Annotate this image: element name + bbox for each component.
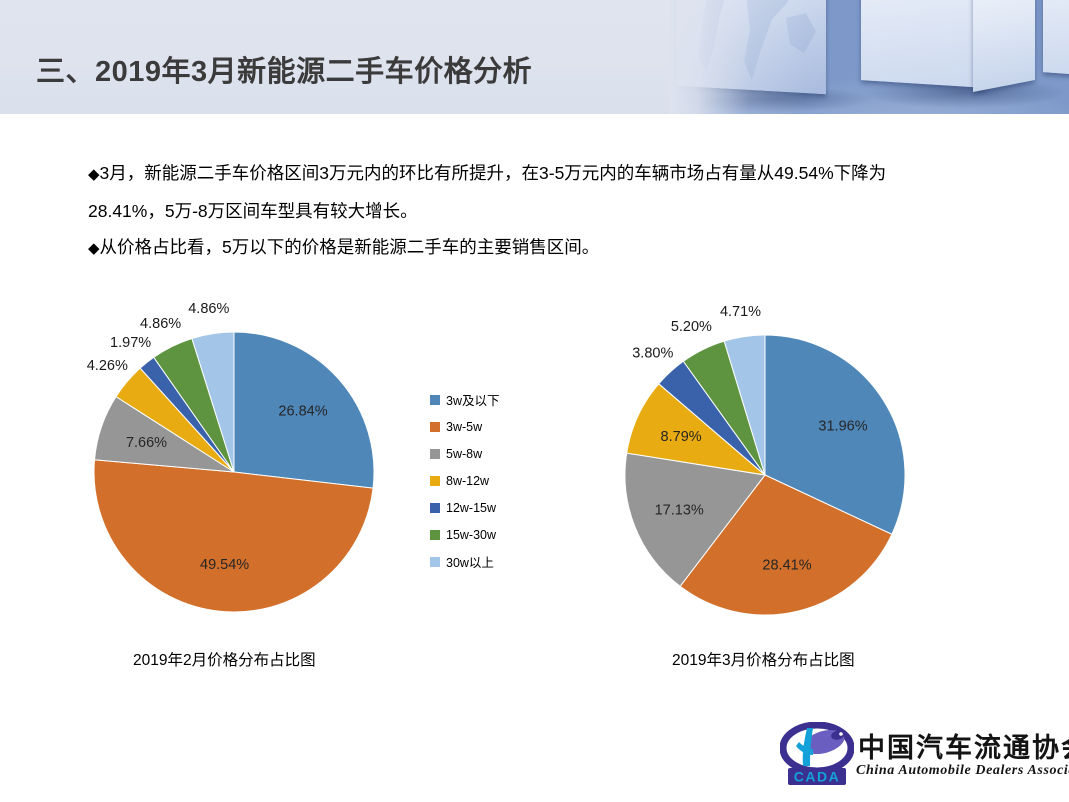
chart-caption-february: 2019年2月价格分布占比图 [133,648,316,670]
cada-logo-english-name: China Automobile Dealers Association [856,763,1069,779]
legend-item-label: 30w以上 [446,552,494,571]
february-pie-label-4: 1.97% [110,335,151,351]
february-pie-label-5: 4.86% [140,316,181,332]
legend-item-1[interactable]: 3w-5w [430,413,540,440]
february-pie-label-0: 26.84% [278,404,327,420]
march-pie-label-6: 4.71% [720,304,761,320]
bullet-2-line-1: ◆从价格占比看，5万以下的价格是新能源二手车的主要销售区间。 [88,229,948,267]
bullet-text-block: ◆3月，新能源二手车价格区间3万元内的环比有所提升，在3-5万元内的车辆市场占有… [88,155,948,267]
header-decorative-photo [669,0,1069,114]
march-pie-label-1: 28.41% [762,558,811,574]
bullet-marker-icon: ◆ [88,166,100,183]
legend-color-swatch [430,449,440,459]
chart-legend: 3w及以下3w-5w5w-8w8w-12w12w-15w15w-30w30w以上 [430,386,540,575]
legend-color-swatch [430,530,440,540]
legend-item-5[interactable]: 15w-30w [430,521,540,548]
legend-color-swatch [430,476,440,486]
march-pie-label-2: 17.13% [655,502,704,518]
march-pie-label-4: 3.80% [632,346,673,362]
legend-color-swatch [430,557,440,567]
legend-item-2[interactable]: 5w-8w [430,440,540,467]
february-pie-label-2: 7.66% [126,435,167,451]
legend-color-swatch [430,503,440,513]
bullet-marker-icon: ◆ [88,240,100,257]
legend-item-label: 5w-8w [446,447,482,461]
bullet-1-text-2: 28.41%，5万-8万区间车型具有较大增长。 [88,201,418,221]
legend-item-3[interactable]: 8w-12w [430,467,540,494]
pie-chart-march-svg: 31.96%28.41%17.13%8.79%3.80%5.20%4.71% [605,296,935,656]
photo-fade-overlay [669,0,1069,114]
bullet-1-line-1: ◆3月，新能源二手车价格区间3万元内的环比有所提升，在3-5万元内的车辆市场占有… [88,155,948,193]
february-pie-label-1: 49.54% [200,557,249,573]
february-pie-label-3: 4.26% [87,358,128,374]
legend-item-label: 8w-12w [446,474,489,488]
legend-color-swatch [430,395,440,405]
legend-item-label: 15w-30w [446,528,496,542]
march-pie-label-0: 31.96% [818,418,867,434]
bullet-1-line-2: 28.41%，5万-8万区间车型具有较大增长。 [88,193,948,229]
pie-chart-february-svg: 26.84%49.54%7.66%4.26%1.97%4.86%4.86% [74,296,404,656]
legend-item-0[interactable]: 3w及以下 [430,386,540,413]
pie-chart-february: 26.84%49.54%7.66%4.26%1.97%4.86%4.86% [74,296,404,656]
february-pie-label-6: 4.86% [188,301,229,317]
legend-color-swatch [430,422,440,432]
chart-caption-march: 2019年3月价格分布占比图 [672,648,855,670]
legend-item-label: 3w-5w [446,420,482,434]
cada-logo-chinese-name: 中国汽车流通协会 [858,726,1069,765]
page-title: 三、2019年3月新能源二手车价格分析 [36,48,532,90]
march-pie-label-5: 5.20% [671,319,712,335]
pie-chart-march: 31.96%28.41%17.13%8.79%3.80%5.20%4.71% [605,296,935,656]
legend-item-label: 12w-15w [446,501,496,515]
bullet-2-text-1: 从价格占比看，5万以下的价格是新能源二手车的主要销售区间。 [100,237,600,257]
legend-item-label: 3w及以下 [446,390,499,409]
svg-text:CADA: CADA [794,769,840,785]
legend-item-6[interactable]: 30w以上 [430,548,540,575]
cada-logo: CADA 中国汽车流通协会 China Automobile Dealers A… [780,722,1060,788]
bullet-1-text-1: 3月，新能源二手车价格区间3万元内的环比有所提升，在3-5万元内的车辆市场占有量… [100,163,887,183]
legend-item-4[interactable]: 12w-15w [430,494,540,521]
march-pie-label-3: 8.79% [661,429,702,445]
cada-logo-mark-icon: CADA [780,722,854,786]
